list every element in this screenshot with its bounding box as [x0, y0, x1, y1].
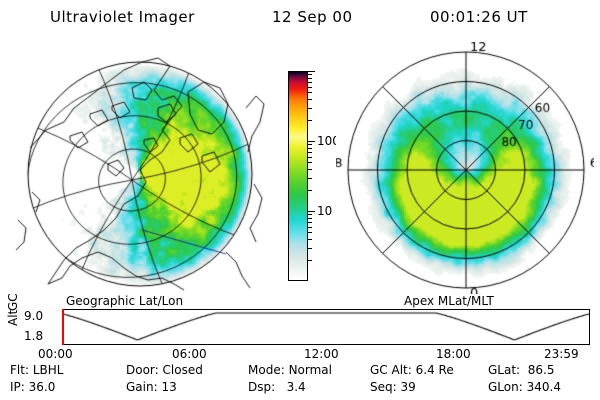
colorbar-minor-tick	[308, 78, 312, 79]
orbit-time-tick: 12:00	[304, 347, 339, 361]
orbit-altitude-strip[interactable]: GC 9.0 1.8 00:0006:0012:0018:0023:59	[0, 305, 600, 357]
status-gain-value: 13	[161, 380, 176, 394]
apex-polar-panel[interactable]	[336, 42, 594, 294]
status-ip-label: IP:	[10, 380, 25, 394]
orbit-time-tick: 06:00	[172, 347, 207, 361]
status-mode-label: Mode:	[248, 363, 285, 377]
orbit-altitude-curve	[63, 310, 589, 344]
status-flt-label: Flt:	[10, 363, 29, 377]
colorbar-gradient	[289, 72, 307, 280]
status-gcalt: GC Alt: 6.4 Re	[370, 363, 454, 377]
status-gain: Gain: 13	[126, 380, 177, 394]
status-glat: GLat: 86.5	[488, 363, 554, 377]
status-footer: Flt: LBHL IP: 36.0 Door: Closed Gain: 13…	[0, 362, 600, 398]
colorbar-tick-label-10: 10	[317, 206, 332, 216]
instrument-title: Ultraviolet Imager	[50, 8, 195, 26]
gc-alt-label-line1: GC	[6, 295, 20, 311]
status-ip: IP: 36.0	[10, 380, 55, 394]
status-seq: Seq: 39	[370, 380, 416, 394]
status-glat-label: GLat:	[488, 363, 520, 377]
current-time-marker	[62, 309, 64, 345]
status-seq-value: 39	[401, 380, 416, 394]
colorbar-minor-tick	[308, 178, 312, 179]
status-gcalt-value: 6.4 Re	[416, 363, 454, 377]
status-glat-value: 86.5	[528, 363, 555, 377]
geographic-aurora-canvas	[12, 52, 270, 292]
colorbar-minor-tick	[308, 227, 312, 228]
colorbar-minor-tick	[308, 157, 312, 158]
orbit-time-axis: 00:0006:0012:0018:0023:59	[0, 347, 600, 363]
colorbar-minor-tick	[308, 152, 312, 153]
status-door: Door: Closed	[126, 363, 203, 377]
status-glon-label: GLon:	[488, 380, 523, 394]
gc-alt-axis-label-alt: Alt	[6, 310, 20, 326]
apex-aurora-canvas	[336, 42, 594, 294]
colorbar-minor-tick	[308, 148, 312, 149]
status-dsp-label: Dsp:	[248, 380, 275, 394]
colorbar-minor-tick	[308, 222, 312, 223]
colorbar-minor-tick	[308, 162, 312, 163]
status-ip-value: 36.0	[29, 380, 56, 394]
colorbar-minor-tick	[308, 82, 312, 83]
status-flt-value: LBHL	[33, 363, 64, 377]
colorbar-major-tick	[308, 141, 315, 142]
colorbar-minor-tick	[308, 260, 312, 261]
colorbar-minor-tick	[308, 120, 312, 121]
status-gain-label: Gain:	[126, 380, 158, 394]
colorbar-minor-tick	[308, 232, 312, 233]
status-glon-value: 340.4	[527, 380, 561, 394]
colorbar-minor-tick	[308, 87, 312, 88]
gc-alt-axis-label: GC	[6, 295, 20, 311]
status-gcalt-label: GC Alt:	[370, 363, 412, 377]
geographic-image-panel[interactable]	[12, 52, 270, 292]
orbit-time-tick: 00:00	[38, 347, 73, 361]
status-dsp-value: 3.4	[287, 380, 306, 394]
status-mode-value: Normal	[289, 363, 332, 377]
colorbar-minor-tick	[308, 190, 312, 191]
status-flt: Flt: LBHL	[10, 363, 63, 377]
colorbar-minor-tick	[308, 218, 312, 219]
colorbar-minor-tick	[308, 239, 312, 240]
colorbar-minor-tick	[308, 144, 312, 145]
colorbar-minor-tick	[308, 248, 312, 249]
orbit-plot-box	[62, 309, 590, 345]
orbit-ytick-high: 9.0	[24, 309, 43, 323]
colorbar-minor-tick	[308, 74, 312, 75]
status-door-label: Door:	[126, 363, 159, 377]
status-seq-label: Seq:	[370, 380, 397, 394]
orbit-time-tick: 23:59	[544, 347, 579, 361]
orbit-time-tick: 18:00	[436, 347, 471, 361]
colorbar-minor-tick	[308, 108, 312, 109]
status-dsp: Dsp: 3.4	[248, 380, 306, 394]
status-mode: Mode: Normal	[248, 363, 332, 377]
colorbar-major-tick	[308, 211, 315, 212]
status-glon: GLon: 340.4	[488, 380, 561, 394]
colorbar-gradient-box	[288, 71, 308, 281]
colorbar-major-tick	[308, 71, 315, 72]
observation-date: 12 Sep 00	[272, 8, 352, 26]
colorbar-minor-tick	[308, 169, 312, 170]
status-door-value: Closed	[163, 363, 203, 377]
orbit-ytick-low: 1.8	[24, 329, 43, 343]
colorbar-minor-tick	[308, 214, 312, 215]
observation-time: 00:01:26 UT	[430, 8, 528, 26]
colorbar-minor-tick	[308, 99, 312, 100]
colorbar-minor-tick	[308, 92, 312, 93]
header-bar: Ultraviolet Imager 12 Sep 00 00:01:26 UT	[0, 6, 600, 30]
